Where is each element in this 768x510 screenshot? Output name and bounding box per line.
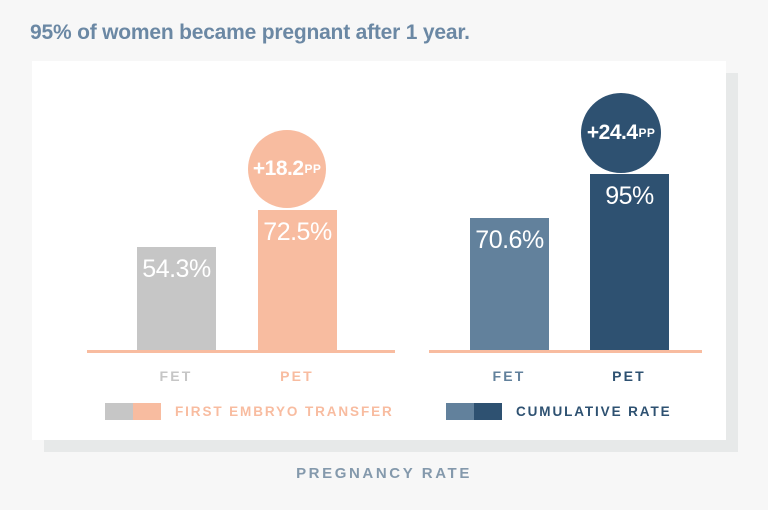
delta-badge-value: +24.4 xyxy=(587,121,638,145)
bar-fet-cumulative-rate[interactable]: 70.6% xyxy=(470,218,549,352)
bar-value-label: 95% xyxy=(590,182,669,211)
category-label-pet: PET xyxy=(242,368,352,384)
legend-first-embryo-transfer[interactable]: FIRST EMBRYO TRANSFER xyxy=(105,403,394,420)
bar-pet-cumulative-rate[interactable]: 95% xyxy=(590,174,669,352)
chart-group-first-embryo-transfer: +18.2PP 54.3% 72.5% FET PET FIRST EMBRYO… xyxy=(62,61,395,440)
axis-baseline-left xyxy=(87,350,395,353)
legend-swatch-icon xyxy=(446,403,502,420)
bar-fet-first-embryo-transfer[interactable]: 54.3% xyxy=(137,247,216,352)
delta-badge-cumulative-rate: +24.4PP xyxy=(581,93,661,173)
category-label-fet: FET xyxy=(121,368,231,384)
chart-group-cumulative-rate: +24.4PP 70.6% 95% FET PET CUMULATIVE RAT… xyxy=(397,61,702,440)
legend-cumulative-rate[interactable]: CUMULATIVE RATE xyxy=(446,403,672,420)
bar-value-label: 54.3% xyxy=(137,255,216,284)
bar-value-label: 70.6% xyxy=(470,226,549,255)
category-label-fet: FET xyxy=(454,368,564,384)
legend-swatch-icon xyxy=(105,403,161,420)
delta-badge-value: +18.2 xyxy=(253,157,304,181)
bar-pet-first-embryo-transfer[interactable]: 72.5% xyxy=(258,210,337,352)
category-label-pet: PET xyxy=(574,368,684,384)
chart-caption: PREGNANCY RATE xyxy=(0,465,768,482)
delta-badge-first-embryo-transfer: +18.2PP xyxy=(248,130,326,208)
legend-label: FIRST EMBRYO TRANSFER xyxy=(175,404,394,419)
axis-baseline-right xyxy=(429,350,702,353)
delta-badge-unit: PP xyxy=(639,126,656,140)
delta-badge-unit: PP xyxy=(305,162,322,176)
chart-card: +18.2PP 54.3% 72.5% FET PET FIRST EMBRYO… xyxy=(32,61,726,440)
bar-value-label: 72.5% xyxy=(258,218,337,247)
page-title: 95% of women became pregnant after 1 yea… xyxy=(30,21,470,45)
legend-label: CUMULATIVE RATE xyxy=(516,404,672,419)
